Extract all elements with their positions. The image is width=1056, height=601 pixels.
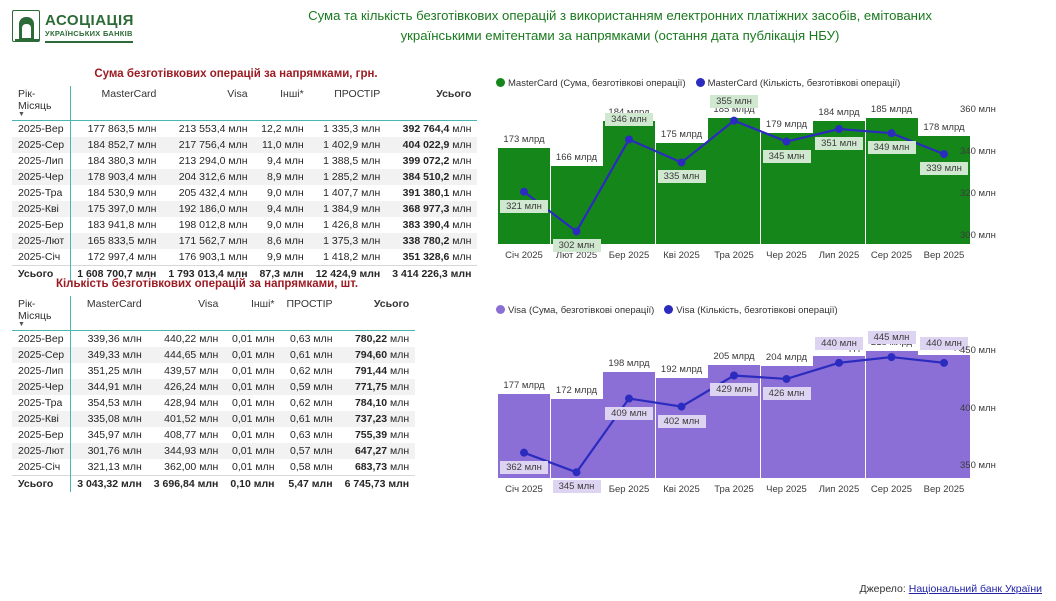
- table-row[interactable]: 2025-Бер183 941,8 млн198 012,8 млн9,0 мл…: [12, 217, 477, 233]
- table-row[interactable]: 2025-Вер339,36 млн440,22 млн0,01 млн0,63…: [12, 331, 415, 348]
- line-data-point[interactable]: [730, 371, 738, 379]
- legend-label: MasterCard (Сума, безготівкові операції): [508, 78, 686, 89]
- visa-plot-area: 177 млрдСіч 2025172 млрдЛют 2025198 млрд…: [492, 323, 1052, 500]
- logo-subtitle: УКРАЇНСЬКИХ БАНКІВ: [45, 29, 133, 38]
- legend-label: Visa (Кількість, безготівкові операції): [676, 305, 837, 316]
- line-data-point[interactable]: [783, 375, 791, 383]
- visa-chart: Visa (Сума, безготівкові операції)Visa (…: [492, 305, 1052, 500]
- cell-total: 755,39 млн: [339, 427, 416, 443]
- line-data-point[interactable]: [678, 158, 686, 166]
- cell-visa: 176 903,1 млн: [162, 249, 253, 266]
- cell-total: 392 764,4 млн: [386, 121, 477, 138]
- y-axis-tick-label: 320 млн: [960, 188, 996, 199]
- col-prostir[interactable]: ПРОСТІР: [281, 296, 339, 331]
- col-period[interactable]: Рік-Місяць ▼: [12, 296, 71, 331]
- cell-prostir: 1 418,2 млн: [310, 249, 387, 266]
- y-axis-tick-label: 400 млн: [960, 403, 996, 414]
- cell-total: 647,27 млн: [339, 443, 416, 459]
- line-value-label: 345 млн: [763, 150, 811, 163]
- cell-total: 391 380,1 млн: [386, 185, 477, 201]
- line-value-label: 339 млн: [920, 162, 968, 175]
- cell-prostir: 1 407,7 млн: [310, 185, 387, 201]
- cell-total: 351 328,6 млн: [386, 249, 477, 266]
- cell-other: 9,9 млн: [254, 249, 310, 266]
- cell-visa: 192 186,0 млн: [162, 201, 253, 217]
- table-row[interactable]: 2025-Лип351,25 млн439,57 млн0,01 млн0,62…: [12, 363, 415, 379]
- logo-title: АСОЦІАЦІЯ: [45, 12, 134, 29]
- cell-mastercard: 175 397,0 млн: [71, 201, 163, 217]
- cell-total: 791,44 млн: [339, 363, 416, 379]
- line-value-label: 345 млн: [553, 480, 601, 493]
- col-visa[interactable]: Visa: [148, 296, 225, 331]
- cell-mastercard: 321,13 млн: [71, 459, 148, 476]
- logo-divider: [45, 41, 133, 43]
- line-data-point[interactable]: [678, 403, 686, 411]
- cell-period: 2025-Лип: [12, 363, 71, 379]
- table-row[interactable]: 2025-Лип184 380,3 млн213 294,0 млн9,4 мл…: [12, 153, 477, 169]
- cell-prostir: 0,61 млн: [281, 411, 339, 427]
- cell-total: 383 390,4 млн: [386, 217, 477, 233]
- cell-period: 2025-Лип: [12, 153, 71, 169]
- cell-other: 0,01 млн: [224, 427, 280, 443]
- cell-mastercard: 344,91 млн: [71, 379, 148, 395]
- cell-prostir: 0,58 млн: [281, 459, 339, 476]
- table-row[interactable]: 2025-Вер177 863,5 млн213 553,4 млн12,2 м…: [12, 121, 477, 138]
- col-other[interactable]: Інші*: [224, 296, 280, 331]
- total-cell-other: 0,10 млн: [224, 476, 280, 493]
- cell-visa: 217 756,4 млн: [162, 137, 253, 153]
- table-row[interactable]: 2025-Кві335,08 млн401,52 млн0,01 млн0,61…: [12, 411, 415, 427]
- line-value-label: 426 млн: [763, 387, 811, 400]
- cell-visa: 362,00 млн: [148, 459, 225, 476]
- table-row[interactable]: 2025-Сер184 852,7 млн217 756,4 млн11,0 м…: [12, 137, 477, 153]
- count-table-block: Кількість безготівкових операцій за напр…: [12, 278, 402, 492]
- cell-total: 784,10 млн: [339, 395, 416, 411]
- table-row[interactable]: 2025-Чер344,91 млн426,24 млн0,01 млн0,59…: [12, 379, 415, 395]
- cell-prostir: 1 384,9 млн: [310, 201, 387, 217]
- line-value-label: 355 млн: [710, 95, 758, 108]
- cell-period: 2025-Січ: [12, 459, 71, 476]
- line-value-label: 346 млн: [605, 113, 653, 126]
- cell-total: 780,22 млн: [339, 331, 416, 348]
- cell-visa: 205 432,4 млн: [162, 185, 253, 201]
- line-value-label: 362 млн: [500, 461, 548, 474]
- cell-prostir: 0,57 млн: [281, 443, 339, 459]
- cell-other: 9,0 млн: [254, 217, 310, 233]
- cell-other: 0,01 млн: [224, 459, 280, 476]
- cell-mastercard: 301,76 млн: [71, 443, 148, 459]
- total-cell-prostir: 5,47 млн: [281, 476, 339, 493]
- cell-mastercard: 183 941,8 млн: [71, 217, 163, 233]
- y-axis-tick-label: 360 млн: [960, 104, 996, 115]
- cell-total: 368 977,3 млн: [386, 201, 477, 217]
- table-row[interactable]: 2025-Січ172 997,4 млн176 903,1 млн9,9 мл…: [12, 249, 477, 266]
- cell-other: 0,01 млн: [224, 363, 280, 379]
- line-value-label: 440 млн: [815, 337, 863, 350]
- legend-marker-icon: [696, 78, 705, 87]
- cell-total: 794,60 млн: [339, 347, 416, 363]
- cell-mastercard: 349,33 млн: [71, 347, 148, 363]
- cell-total: 683,73 млн: [339, 459, 416, 476]
- cell-other: 8,6 млн: [254, 233, 310, 249]
- cell-prostir: 0,63 млн: [281, 427, 339, 443]
- legend-item[interactable]: MasterCard (Кількість, безготівкові опер…: [696, 78, 901, 89]
- cell-other: 0,01 млн: [224, 347, 280, 363]
- cell-visa: 444,65 млн: [148, 347, 225, 363]
- cell-period: 2025-Тра: [12, 185, 71, 201]
- sort-caret-icon: ▼: [18, 112, 64, 117]
- line-data-point[interactable]: [940, 359, 948, 367]
- cell-mastercard: 335,08 млн: [71, 411, 148, 427]
- legend-item[interactable]: MasterCard (Сума, безготівкові операції): [496, 78, 686, 89]
- sum-table: Рік-Місяць ▼ MasterCard Visa Інші* ПРОСТ…: [12, 86, 477, 282]
- line-data-point[interactable]: [625, 395, 633, 403]
- cell-prostir: 1 402,9 млн: [310, 137, 387, 153]
- cell-total: 384 510,2 млн: [386, 169, 477, 185]
- cell-other: 12,2 млн: [254, 121, 310, 138]
- cell-mastercard: 172 997,4 млн: [71, 249, 163, 266]
- line-value-label: 349 млн: [868, 141, 916, 154]
- cell-other: 8,9 млн: [254, 169, 310, 185]
- cell-visa: 171 562,7 млн: [162, 233, 253, 249]
- cell-mastercard: 184 380,3 млн: [71, 153, 163, 169]
- cell-period: 2025-Бер: [12, 217, 71, 233]
- cell-period: 2025-Сер: [12, 137, 71, 153]
- cell-period: 2025-Лют: [12, 233, 71, 249]
- cell-mastercard: 354,53 млн: [71, 395, 148, 411]
- bank-building-icon: [12, 10, 40, 42]
- cell-other: 11,0 млн: [254, 137, 310, 153]
- cell-period: 2025-Сер: [12, 347, 71, 363]
- line-value-label: 351 млн: [815, 137, 863, 150]
- cell-other: 0,01 млн: [224, 395, 280, 411]
- table-row[interactable]: 2025-Сер349,33 млн444,65 млн0,01 млн0,61…: [12, 347, 415, 363]
- cell-prostir: 0,59 млн: [281, 379, 339, 395]
- line-value-label: 302 млн: [553, 239, 601, 252]
- cell-period: 2025-Січ: [12, 249, 71, 266]
- count-table-title: Кількість безготівкових операцій за напр…: [12, 278, 402, 290]
- cell-visa: 428,94 млн: [148, 395, 225, 411]
- table-row[interactable]: 2025-Кві175 397,0 млн192 186,0 млн9,4 мл…: [12, 201, 477, 217]
- cell-period: Усього: [12, 476, 71, 493]
- legend-item[interactable]: Visa (Кількість, безготівкові операції): [664, 305, 837, 316]
- line-data-point[interactable]: [573, 468, 581, 476]
- cell-total: 399 072,2 млн: [386, 153, 477, 169]
- mastercard-chart-legend: MasterCard (Сума, безготівкові операції)…: [496, 78, 910, 89]
- cell-prostir: 0,61 млн: [281, 347, 339, 363]
- cell-period: 2025-Лют: [12, 443, 71, 459]
- cell-period: 2025-Тра: [12, 395, 71, 411]
- table-row[interactable]: 2025-Чер178 903,4 млн204 312,6 млн8,9 мл…: [12, 169, 477, 185]
- legend-marker-icon: [496, 305, 505, 314]
- sum-table-body: 2025-Вер177 863,5 млн213 553,4 млн12,2 м…: [12, 121, 477, 283]
- table-header-row: Рік-Місяць ▼ MasterCard Visa Інші* ПРОСТ…: [12, 296, 415, 331]
- line-data-point[interactable]: [783, 138, 791, 146]
- cell-prostir: 1 335,3 млн: [310, 121, 387, 138]
- line-data-point[interactable]: [888, 129, 896, 137]
- cell-visa: 440,22 млн: [148, 331, 225, 348]
- cell-visa: 426,24 млн: [148, 379, 225, 395]
- table-row[interactable]: 2025-Січ321,13 млн362,00 млн0,01 млн0,58…: [12, 459, 415, 476]
- cell-other: 0,01 млн: [224, 379, 280, 395]
- line-data-point[interactable]: [835, 359, 843, 367]
- cell-total: 771,75 млн: [339, 379, 416, 395]
- cell-visa: 198 012,8 млн: [162, 217, 253, 233]
- association-logo: АСОЦІАЦІЯ УКРАЇНСЬКИХ БАНКІВ: [12, 10, 134, 50]
- cell-visa: 344,93 млн: [148, 443, 225, 459]
- line-data-point[interactable]: [573, 227, 581, 235]
- cell-total: 338 780,2 млн: [386, 233, 477, 249]
- line-value-label: 445 млн: [868, 331, 916, 344]
- source-link[interactable]: Національний банк України: [909, 583, 1042, 595]
- table-row[interactable]: 2025-Бер345,97 млн408,77 млн0,01 млн0,63…: [12, 427, 415, 443]
- cell-period: 2025-Кві: [12, 411, 71, 427]
- cell-period: 2025-Чер: [12, 379, 71, 395]
- col-total[interactable]: Усього: [339, 296, 416, 331]
- cell-visa: 213 294,0 млн: [162, 153, 253, 169]
- cell-mastercard: 177 863,5 млн: [71, 121, 163, 138]
- total-cell-visa: 3 696,84 млн: [148, 476, 225, 493]
- col-other[interactable]: Інші*: [254, 86, 310, 121]
- line-data-point[interactable]: [730, 117, 738, 125]
- cell-other: 0,01 млн: [224, 443, 280, 459]
- col-visa[interactable]: Visa: [162, 86, 253, 121]
- cell-visa: 213 553,4 млн: [162, 121, 253, 138]
- cell-period: 2025-Кві: [12, 201, 71, 217]
- table-row[interactable]: 2025-Лют165 833,5 млн171 562,7 млн8,6 мл…: [12, 233, 477, 249]
- line-value-label: 409 млн: [605, 407, 653, 420]
- cell-visa: 408,77 млн: [148, 427, 225, 443]
- legend-marker-icon: [496, 78, 505, 87]
- cell-prostir: 0,62 млн: [281, 395, 339, 411]
- cell-prostir: 1 285,2 млн: [310, 169, 387, 185]
- cell-period: 2025-Вер: [12, 331, 71, 348]
- cell-period: 2025-Бер: [12, 427, 71, 443]
- source-note: Джерело: Національний банк України: [860, 583, 1043, 595]
- cell-prostir: 0,62 млн: [281, 363, 339, 379]
- cell-visa: 401,52 млн: [148, 411, 225, 427]
- table-row[interactable]: 2025-Тра354,53 млн428,94 млн0,01 млн0,62…: [12, 395, 415, 411]
- legend-label: Visa (Сума, безготівкові операції): [508, 305, 654, 316]
- cell-mastercard: 184 852,7 млн: [71, 137, 163, 153]
- line-value-label: 321 млн: [500, 200, 548, 213]
- sort-caret-icon: ▼: [18, 322, 64, 327]
- cell-period: 2025-Вер: [12, 121, 71, 138]
- source-label: Джерело:: [860, 583, 906, 595]
- col-mastercard[interactable]: MasterCard: [71, 296, 148, 331]
- line-value-label: 402 млн: [658, 415, 706, 428]
- line-data-point[interactable]: [625, 135, 633, 143]
- legend-item[interactable]: Visa (Сума, безготівкові операції): [496, 305, 654, 316]
- line-value-label: 429 млн: [710, 383, 758, 396]
- line-data-point[interactable]: [520, 449, 528, 457]
- cell-mastercard: 165 833,5 млн: [71, 233, 163, 249]
- cell-other: 0,01 млн: [224, 411, 280, 427]
- legend-label: MasterCard (Кількість, безготівкові опер…: [708, 78, 901, 89]
- col-prostir[interactable]: ПРОСТІР: [310, 86, 387, 121]
- table-header-row: Рік-Місяць ▼ MasterCard Visa Інші* ПРОСТ…: [12, 86, 477, 121]
- cell-mastercard: 351,25 млн: [71, 363, 148, 379]
- line-data-point[interactable]: [940, 150, 948, 158]
- page-title-line1: Сума та кількість безготівкових операцій…: [180, 6, 1056, 26]
- cell-other: 9,4 млн: [254, 201, 310, 217]
- cell-other: 9,0 млн: [254, 185, 310, 201]
- cell-total: 404 022,9 млн: [386, 137, 477, 153]
- cell-mastercard: 178 903,4 млн: [71, 169, 163, 185]
- page-title-line2: українськими емітентами за напрямками (о…: [180, 26, 1056, 46]
- count-table-body: 2025-Вер339,36 млн440,22 млн0,01 млн0,63…: [12, 331, 415, 493]
- total-cell-total: 6 745,73 млн: [339, 476, 416, 493]
- cell-mastercard: 184 530,9 млн: [71, 185, 163, 201]
- y-axis-tick-label: 340 млн: [960, 146, 996, 157]
- sum-table-block: Сума безготівкових операцій за напрямкам…: [12, 68, 460, 282]
- line-data-point[interactable]: [835, 125, 843, 133]
- visa-chart-legend: Visa (Сума, безготівкові операції)Visa (…: [496, 305, 848, 316]
- cell-mastercard: 345,97 млн: [71, 427, 148, 443]
- y-axis-tick-label: 350 млн: [960, 460, 996, 471]
- mastercard-chart: MasterCard (Сума, безготівкові операції)…: [492, 78, 1052, 278]
- cell-prostir: 0,63 млн: [281, 331, 339, 348]
- cell-visa: 439,57 млн: [148, 363, 225, 379]
- total-cell-mastercard: 3 043,32 млн: [71, 476, 148, 493]
- legend-marker-icon: [664, 305, 673, 314]
- count-table: Рік-Місяць ▼ MasterCard Visa Інші* ПРОСТ…: [12, 296, 415, 492]
- page-title: Сума та кількість безготівкових операцій…: [180, 6, 1056, 46]
- table-total-row: Усього3 043,32 млн3 696,84 млн0,10 млн5,…: [12, 476, 415, 493]
- cell-mastercard: 339,36 млн: [71, 331, 148, 348]
- line-value-label: 335 млн: [658, 170, 706, 183]
- cell-prostir: 1 375,3 млн: [310, 233, 387, 249]
- line-data-point[interactable]: [520, 188, 528, 196]
- col-total[interactable]: Усього: [386, 86, 477, 121]
- col-mastercard[interactable]: MasterCard: [71, 86, 163, 121]
- cell-other: 0,01 млн: [224, 331, 280, 348]
- sum-table-title: Сума безготівкових операцій за напрямкам…: [12, 68, 460, 80]
- cell-visa: 204 312,6 млн: [162, 169, 253, 185]
- col-period[interactable]: Рік-Місяць ▼: [12, 86, 71, 121]
- y-axis-tick-label: 450 млн: [960, 345, 996, 356]
- table-row[interactable]: 2025-Лют301,76 млн344,93 млн0,01 млн0,57…: [12, 443, 415, 459]
- cell-other: 9,4 млн: [254, 153, 310, 169]
- y-axis-tick-label: 300 млн: [960, 230, 996, 241]
- mastercard-plot-area: 173 млрдСіч 2025166 млрдЛют 2025184 млрд…: [492, 96, 1052, 278]
- cell-prostir: 1 388,5 млн: [310, 153, 387, 169]
- table-row[interactable]: 2025-Тра184 530,9 млн205 432,4 млн9,0 мл…: [12, 185, 477, 201]
- cell-total: 737,23 млн: [339, 411, 416, 427]
- cell-prostir: 1 426,8 млн: [310, 217, 387, 233]
- line-path: [524, 121, 944, 232]
- line-data-point[interactable]: [888, 353, 896, 361]
- cell-period: 2025-Чер: [12, 169, 71, 185]
